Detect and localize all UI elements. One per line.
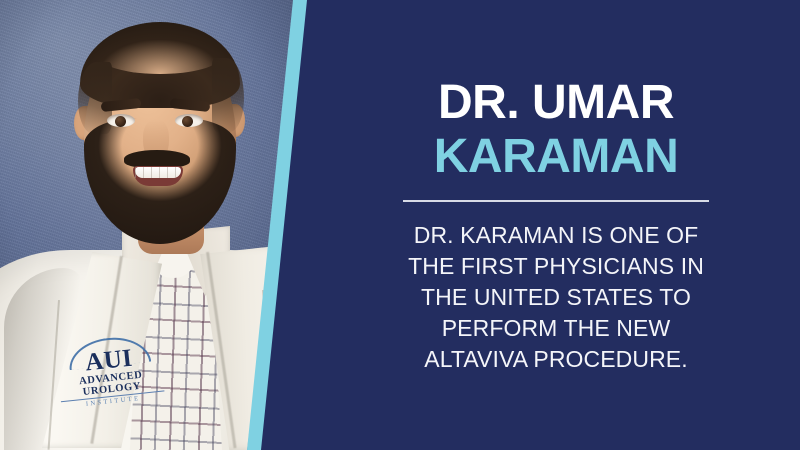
hairline: [100, 40, 220, 74]
physician-photo: AUI ADVANCED UROLOGY INSTITUTE: [0, 0, 310, 450]
headline-block: DR. UMAR KARAMAN: [434, 76, 678, 184]
physician-figure: AUI ADVANCED UROLOGY INSTITUTE: [0, 0, 310, 450]
subtitle-line-1: DR. KARAMAN IS ONE OF: [408, 220, 704, 251]
coat-seam-right: [262, 290, 277, 450]
mouth: [133, 166, 183, 186]
advanced-urology-institute-logo: AUI ADVANCED UROLOGY INSTITUTE: [49, 332, 171, 410]
pupil-right: [182, 116, 193, 127]
subtitle-line-5: ALTAVIVA PROCEDURE.: [408, 344, 704, 375]
subtitle-block: DR. KARAMAN IS ONE OF THE FIRST PHYSICIA…: [408, 220, 704, 375]
pupil-left: [115, 116, 126, 127]
subtitle-line-4: PERFORM THE NEW: [408, 313, 704, 344]
headline-line-2: KARAMAN: [434, 130, 678, 184]
text-panel: DR. UMAR KARAMAN DR. KARAMAN IS ONE OF T…: [306, 0, 800, 450]
headline-divider: [403, 200, 709, 202]
promo-banner: AUI ADVANCED UROLOGY INSTITUTE DR. UMAR …: [0, 0, 800, 450]
headline-line-1: DR. UMAR: [434, 76, 678, 130]
sideburn-right: [212, 58, 244, 132]
teeth: [135, 167, 181, 178]
subtitle-line-2: THE FIRST PHYSICIANS IN: [408, 251, 704, 282]
subtitle-line-3: THE UNITED STATES TO: [408, 282, 704, 313]
